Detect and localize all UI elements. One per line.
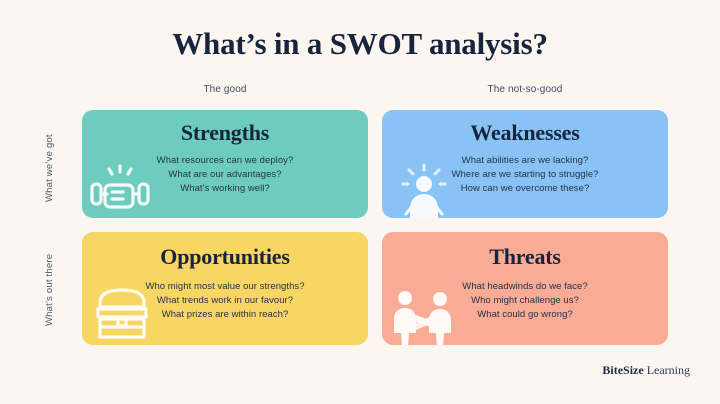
quadrant-heading-opportunities: Opportunities xyxy=(82,244,368,270)
quadrant-heading-weaknesses: Weaknesses xyxy=(382,120,668,146)
quadrant-heading-strengths: Strengths xyxy=(82,120,368,146)
brand-name: BiteSize xyxy=(602,363,643,377)
quadrant-heading-threats: Threats xyxy=(382,244,668,270)
quadrant-opportunities[interactable]: Opportunities Who might most value our s… xyxy=(82,232,368,345)
quadrant-weaknesses[interactable]: Weaknesses What abilities are we lacking… xyxy=(382,110,668,218)
quadrant-strengths[interactable]: Strengths What resources can we deploy? … xyxy=(82,110,368,218)
treasure-chest-icon xyxy=(90,279,154,343)
flexing-arm-icon xyxy=(88,158,152,218)
column-header-good: The good xyxy=(82,84,368,95)
two-people-fighting-icon xyxy=(388,283,464,345)
row-label-internal: What we’ve got xyxy=(44,119,62,217)
brand-word: Learning xyxy=(647,363,690,377)
stressed-person-icon xyxy=(392,160,456,218)
column-header-not-so-good: The not-so-good xyxy=(382,84,668,95)
swot-infographic: What’s in a SWOT analysis? The good The … xyxy=(0,0,720,404)
footer-logo: BiteSizeLearning xyxy=(602,363,690,378)
quadrant-threats[interactable]: Threats What headwinds do we face? Who m… xyxy=(382,232,668,345)
row-label-external: What’s out there xyxy=(44,238,62,342)
page-title: What’s in a SWOT analysis? xyxy=(0,26,720,62)
